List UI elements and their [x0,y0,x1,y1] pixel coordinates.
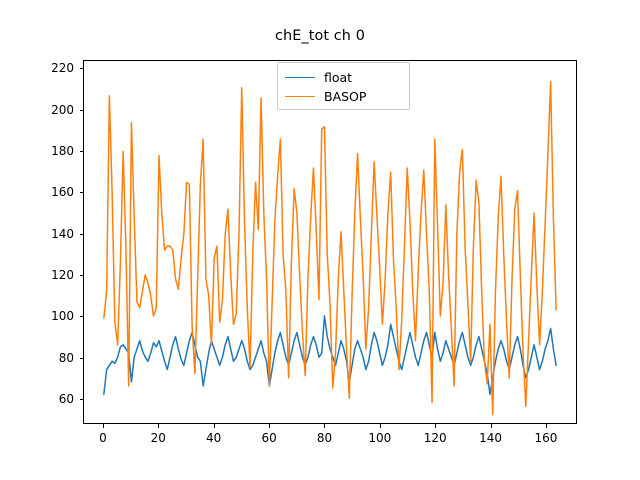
x-tick-label: 120 [424,431,447,445]
series-line-basop [104,82,556,415]
x-tick-mark [324,424,325,428]
y-tick-mark [80,275,84,276]
x-tick-label: 40 [206,431,221,445]
y-tick-mark [80,110,84,111]
y-tick-label: 160 [51,185,74,199]
figure-canvas: chE_tot ch 0 6080100120140160180200220 0… [0,0,640,480]
y-tick-label: 100 [51,309,74,323]
x-tick-mark [103,424,104,428]
y-axis-tick-labels: 6080100120140160180200220 [0,0,74,480]
plot-lines [84,61,576,423]
x-tick-mark [491,424,492,428]
x-tick-mark [214,424,215,428]
x-tick-label: 160 [535,431,558,445]
legend-swatch-basop [285,96,315,97]
x-tick-mark [435,424,436,428]
x-tick-label: 100 [368,431,391,445]
y-tick-mark [80,192,84,193]
legend-label-basop: BASOP [324,89,366,104]
y-tick-mark [80,68,84,69]
x-tick-label: 140 [479,431,502,445]
x-tick-label: 20 [151,431,166,445]
x-tick-mark [269,424,270,428]
y-tick-mark [80,151,84,152]
x-tick-mark [546,424,547,428]
chart-legend: float BASOP [277,62,410,110]
y-tick-label: 180 [51,144,74,158]
chart-title: chE_tot ch 0 [0,28,640,44]
legend-swatch-float [285,77,315,78]
y-tick-mark [80,316,84,317]
plot-axes [83,60,577,424]
x-tick-mark [380,424,381,428]
y-tick-label: 220 [51,61,74,75]
y-tick-label: 200 [51,103,74,117]
y-tick-mark [80,358,84,359]
y-tick-label: 120 [51,268,74,282]
x-tick-label: 60 [261,431,276,445]
y-tick-label: 140 [51,227,74,241]
x-axis-tick-labels: 020406080100120140160 [0,431,640,455]
legend-entry-float: float [285,68,402,87]
x-tick-label: 0 [99,431,107,445]
y-tick-mark [80,399,84,400]
legend-label-float: float [324,70,352,85]
x-tick-label: 80 [317,431,332,445]
legend-entry-basop: BASOP [285,87,402,106]
y-tick-mark [80,234,84,235]
y-tick-label: 80 [59,351,74,365]
x-tick-mark [158,424,159,428]
y-tick-label: 60 [59,392,74,406]
